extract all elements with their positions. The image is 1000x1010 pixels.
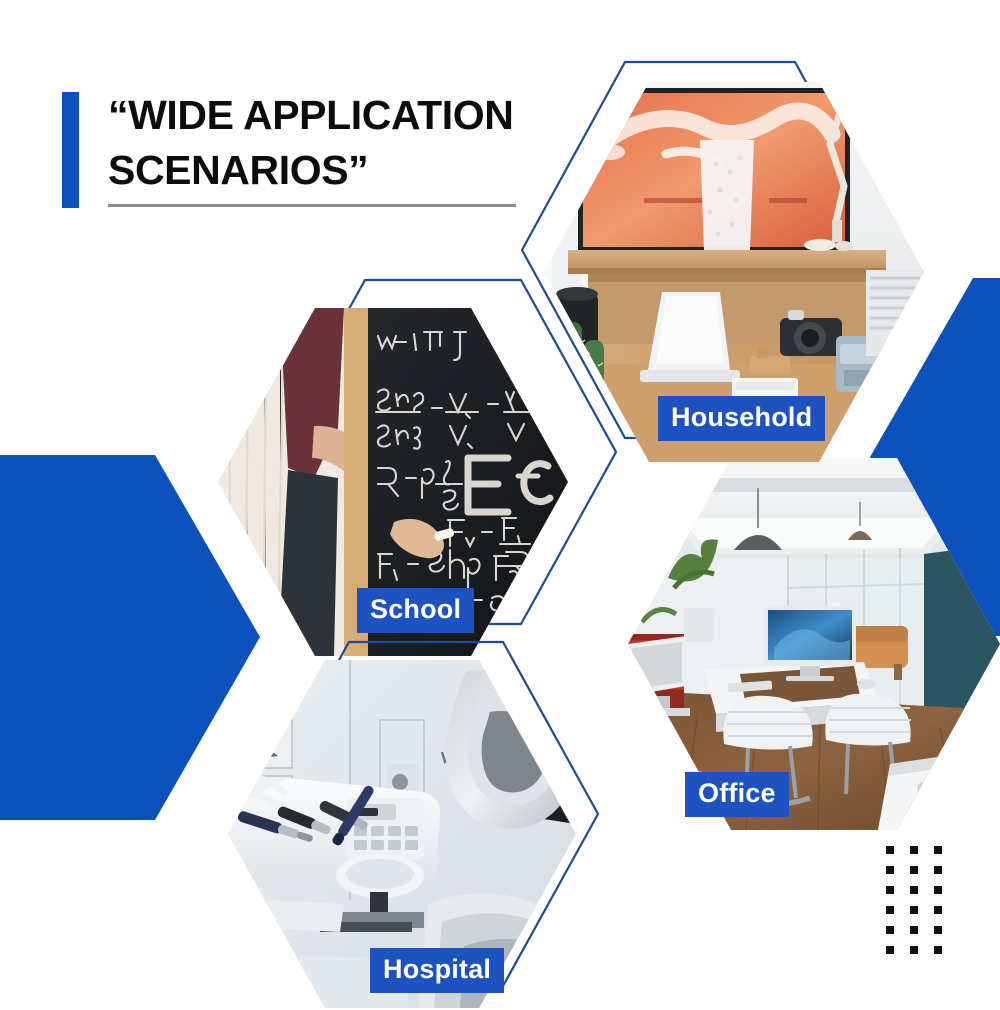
grid-dot [910,926,918,934]
title-accent-bar [62,92,79,208]
scenario-tile-office[interactable]: Office [600,440,1000,860]
title-divider [108,204,516,207]
grid-dot [910,886,918,894]
grid-dot [934,946,942,954]
scenario-label-hospital[interactable]: Hospital [370,948,504,993]
grid-dot [886,866,894,874]
grid-dot [934,926,942,934]
grid-dot [910,866,918,874]
grid-dot [886,946,894,954]
grid-dot [910,946,918,954]
scenario-photo-office [628,458,1000,830]
poster-canvas: “WIDE APPLICATION SCENARIOS” [0,0,1000,1000]
scenario-tile-school[interactable]: School [180,278,630,648]
grid-dot [934,906,942,914]
grid-dot [886,906,894,914]
grid-dot [934,866,942,874]
grid-dot [886,886,894,894]
scenario-tile-hospital[interactable]: Hospital [190,640,610,1010]
scenario-label-office[interactable]: Office [685,772,789,817]
scenario-label-household[interactable]: Household [658,396,825,441]
scenario-label-school[interactable]: School [357,588,474,633]
grid-dot [886,926,894,934]
grid-dot [934,886,942,894]
dot-grid-decoration [886,846,966,954]
grid-dot [910,906,918,914]
